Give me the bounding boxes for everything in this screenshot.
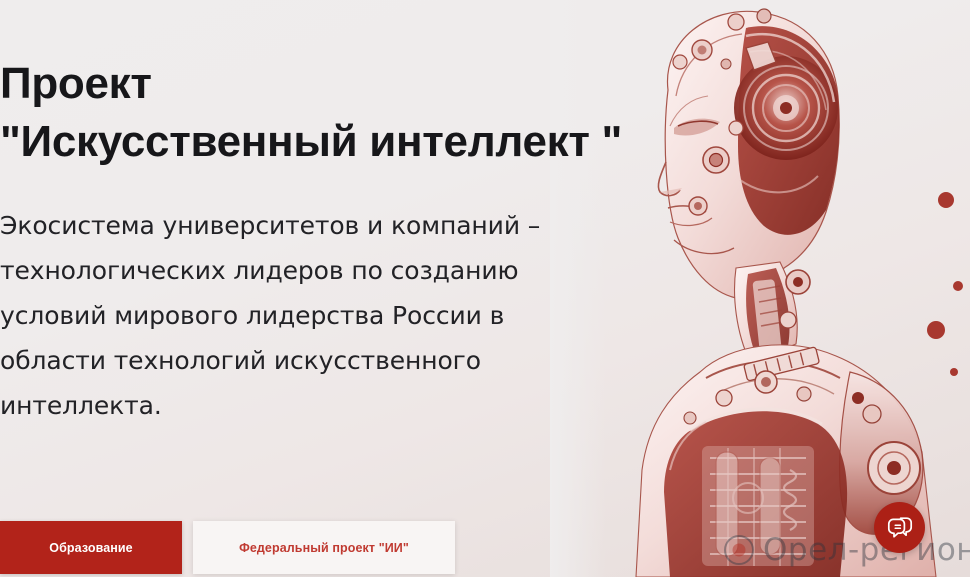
page-title-line-2: "Искусственный интеллект ": [0, 117, 622, 166]
watermark-logo-icon: [724, 535, 754, 565]
hero-button-row: Образование Федеральный проект "ИИ": [0, 521, 455, 574]
education-button[interactable]: Образование: [0, 521, 182, 574]
page-title-line-1: Проект: [0, 59, 152, 108]
page-title: Проект: [0, 56, 620, 112]
hero-banner: Проект "Искусственный интеллект " Экосис…: [0, 0, 970, 577]
chat-widget-button[interactable]: [874, 502, 925, 553]
watermark: Орел-регион: [724, 532, 970, 568]
watermark-text: Орел-регион: [763, 532, 970, 568]
hero-description: Экосистема университетов и компаний – те…: [0, 203, 600, 428]
federal-project-ai-button[interactable]: Федеральный проект "ИИ": [193, 521, 455, 574]
page-title-line-2-wrap: "Искусственный интеллект ": [0, 114, 620, 170]
hero-content: Проект "Искусственный интеллект " Экосис…: [0, 0, 620, 577]
chat-bubble-icon: [887, 516, 913, 540]
